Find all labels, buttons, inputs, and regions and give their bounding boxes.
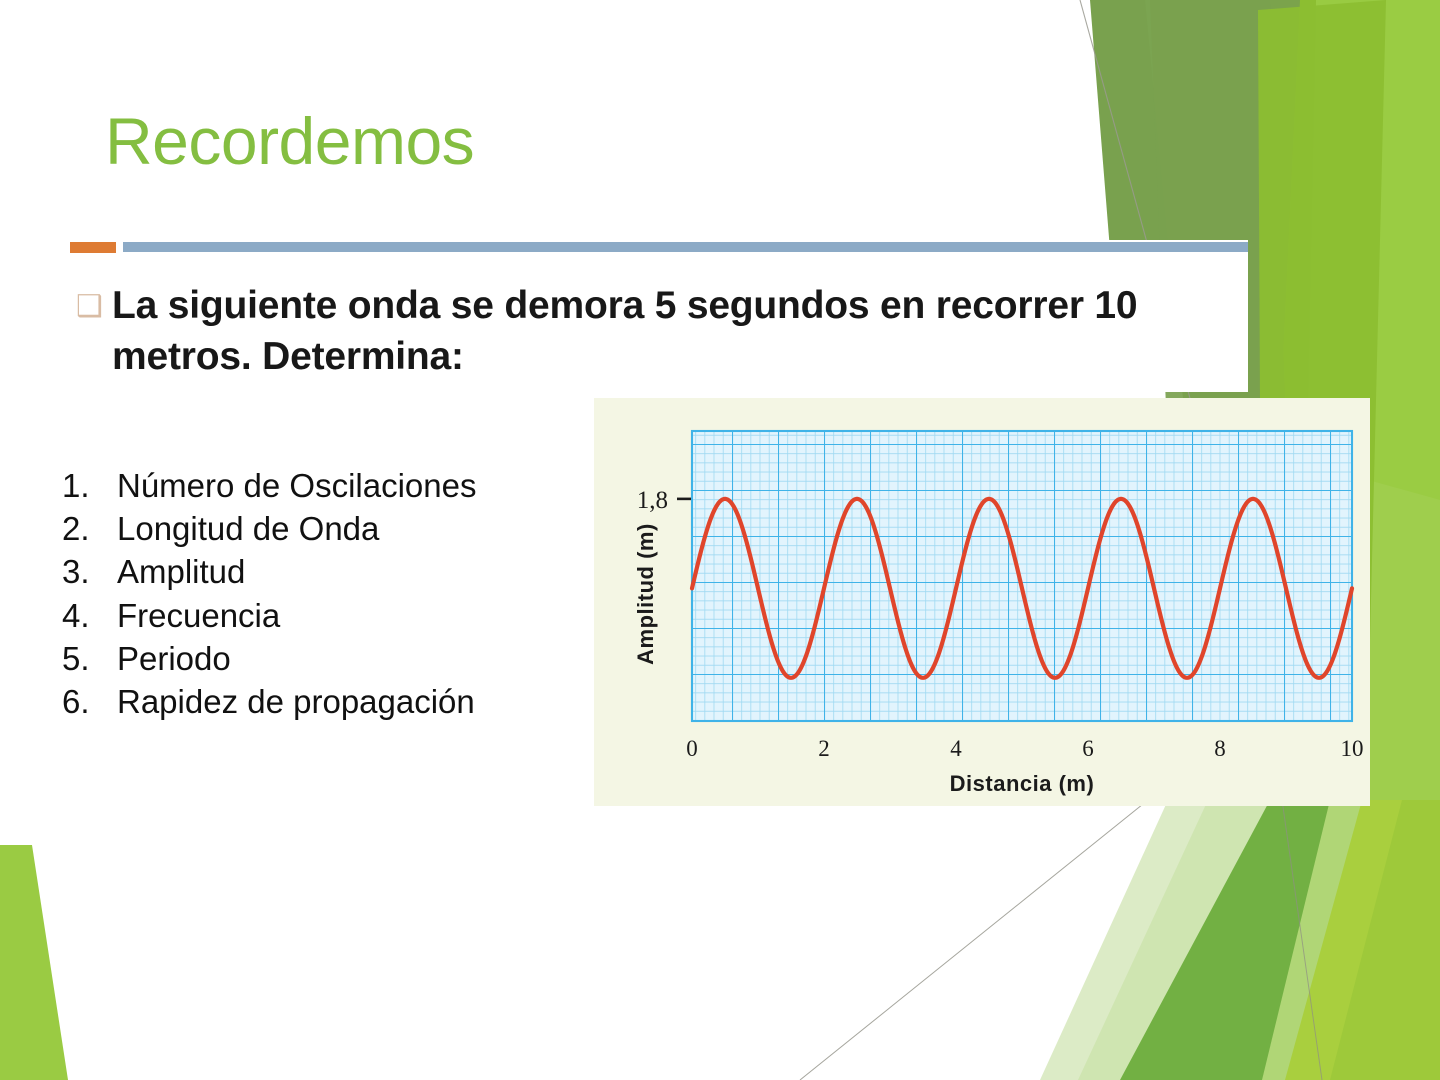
list-item: 3. Amplitud <box>62 550 477 593</box>
list-item-label: Periodo <box>117 637 231 680</box>
list-item-number: 1. <box>62 464 117 507</box>
list-item-label: Frecuencia <box>117 594 280 637</box>
list-item-number: 3. <box>62 550 117 593</box>
list-item-label: Longitud de Onda <box>117 507 379 550</box>
question-list: 1. Número de Oscilaciones 2. Longitud de… <box>62 464 477 723</box>
y-axis-title: Amplitud (m) <box>633 523 658 665</box>
list-item-label: Número de Oscilaciones <box>117 464 477 507</box>
decor-shape-bottomleft-wedge <box>0 845 68 1080</box>
list-item-label: Amplitud <box>117 550 245 593</box>
x-axis-title: Distancia (m) <box>950 771 1095 796</box>
list-item: 6. Rapidez de propagación <box>62 680 477 723</box>
list-item: 4. Frecuencia <box>62 594 477 637</box>
decor-shape-pale2-bottom <box>1078 800 1440 1080</box>
wave-chart: 1,8 Amplitud (m) 0 2 4 6 8 10 Distancia … <box>594 398 1370 806</box>
decor-hairline-bottom-short <box>1282 800 1322 1080</box>
x-tick-label: 4 <box>950 736 962 761</box>
list-item: 2. Longitud de Onda <box>62 507 477 550</box>
statement-card: ❑ La siguiente onda se demora 5 segundos… <box>68 240 1248 392</box>
accent-blue-bar <box>123 242 1248 252</box>
decor-shape-yellowgreen-bottom <box>1330 800 1440 1080</box>
x-tick-label: 10 <box>1341 736 1364 761</box>
decor-shape-lime-top <box>1368 0 1440 500</box>
list-item-number: 2. <box>62 507 117 550</box>
statement-text: La siguiente onda se demora 5 segundos e… <box>112 280 1232 383</box>
list-item: 1. Número de Oscilaciones <box>62 464 477 507</box>
decor-shape-medium-bottom <box>1120 800 1440 1080</box>
x-tick-label: 8 <box>1214 736 1226 761</box>
x-tick-label: 2 <box>818 736 830 761</box>
decor-shape-lime-bottom <box>1285 800 1440 1080</box>
list-item: 5. Periodo <box>62 637 477 680</box>
x-tick-label: 6 <box>1082 736 1094 761</box>
list-item-number: 5. <box>62 637 117 680</box>
decor-shape-palegreen-wedge <box>1262 800 1440 1080</box>
statement-accent-row <box>68 240 1248 253</box>
decor-hairline-bottom-long <box>800 800 1148 1080</box>
list-item-number: 6. <box>62 680 117 723</box>
accent-orange-block <box>70 242 116 253</box>
page-title: Recordemos <box>105 103 474 179</box>
list-item-number: 4. <box>62 594 117 637</box>
wave-chart-card: 1,8 Amplitud (m) 0 2 4 6 8 10 Distancia … <box>594 398 1370 806</box>
y-tick-label: 1,8 <box>637 487 668 514</box>
slide-canvas: Recordemos ❑ La siguiente onda se demora… <box>0 0 1440 1080</box>
list-item-label: Rapidez de propagación <box>117 680 475 723</box>
x-tick-label: 0 <box>686 736 698 761</box>
statement-bullet-icon: ❑ <box>76 292 103 322</box>
decor-shape-pale-bottom <box>1040 800 1440 1080</box>
